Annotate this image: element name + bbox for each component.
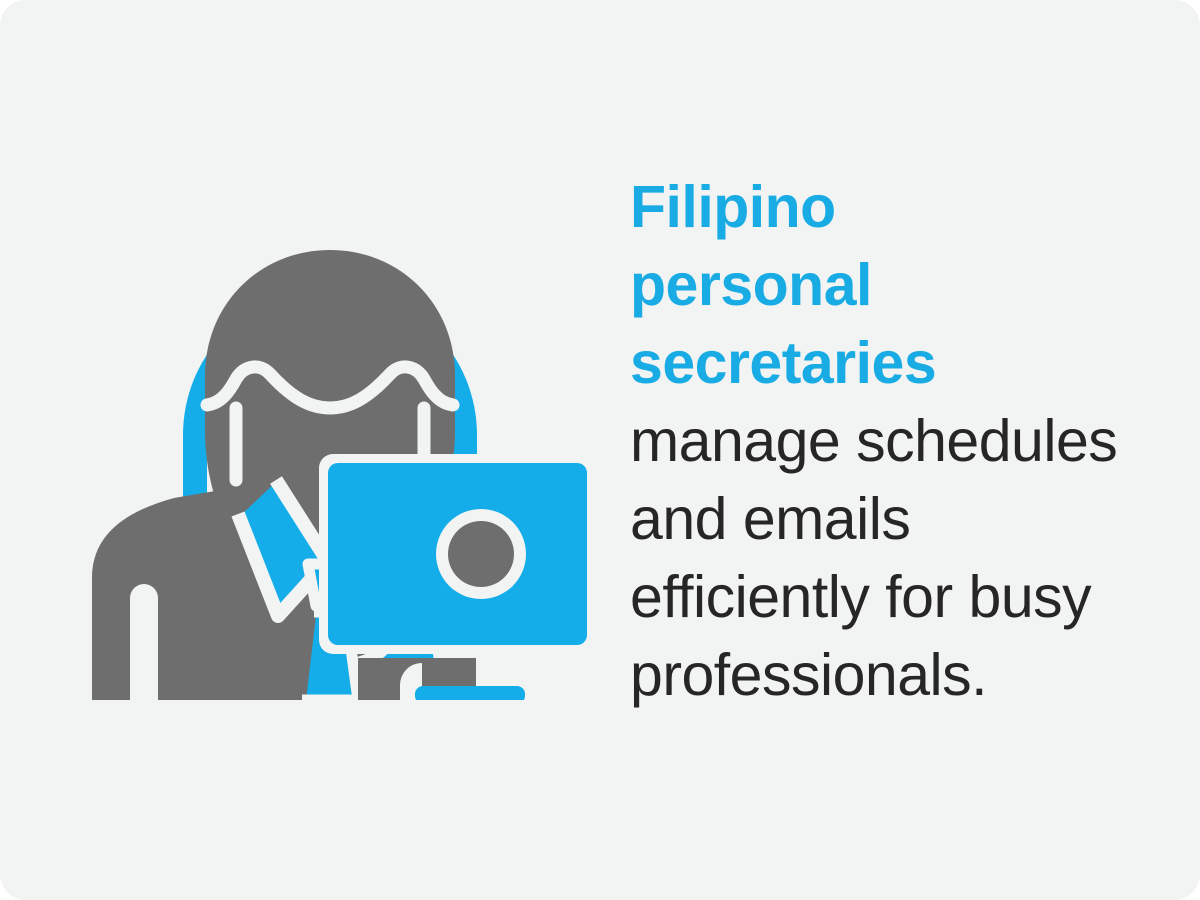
support-agent-illustration <box>70 180 590 700</box>
body-line-1: manage schedules <box>630 402 1140 480</box>
headline-line-3: secretaries <box>630 324 1140 402</box>
monitor-icon <box>319 454 590 654</box>
headline-line-2: personal <box>630 246 1140 324</box>
headline-copy: Filipino personal secretaries manage sch… <box>630 168 1140 714</box>
promo-card: Filipino personal secretaries manage sch… <box>0 0 1200 900</box>
body-line-2: and emails <box>630 480 1140 558</box>
monitor-camera-dot <box>448 521 514 587</box>
keyboard-icon <box>415 686 525 700</box>
body-line-4: professionals. <box>630 636 1140 714</box>
headline-line-1: Filipino <box>630 168 1140 246</box>
body-line-3: efficiently for busy <box>630 558 1140 636</box>
